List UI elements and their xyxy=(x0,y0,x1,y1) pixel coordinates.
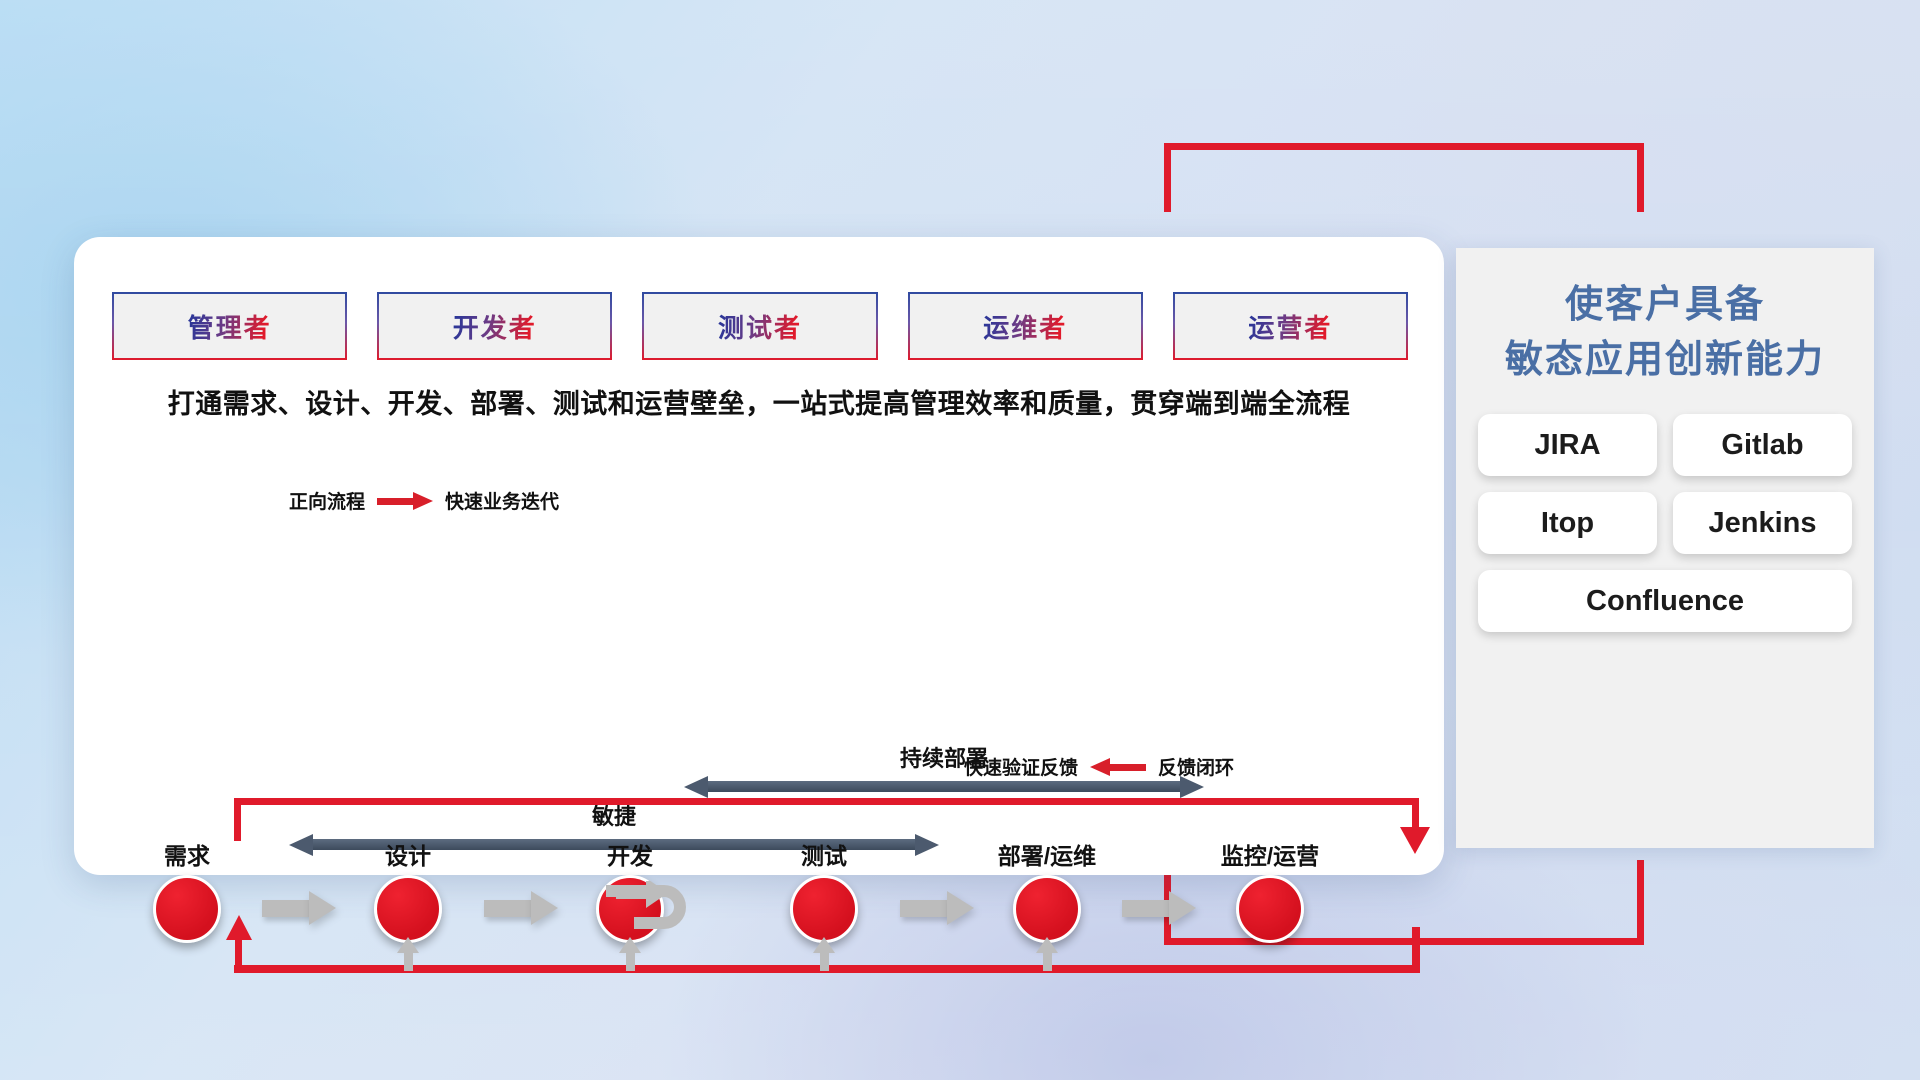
panel-title-line2: 敏态应用创新能力 xyxy=(1456,333,1874,388)
tool-chip-itop[interactable]: Itop xyxy=(1478,492,1657,554)
node-up-arrow-icon-deploy xyxy=(1036,937,1058,971)
feedback-loop-right-stem xyxy=(1412,927,1420,973)
node-label: 需求 xyxy=(112,837,262,871)
main-card: 管理者 开发者 测试者 运维者 运营者 打通需求、设计、开发、部署、测试和运营壁… xyxy=(74,237,1444,875)
pipeline: 需求 设计 开发 测试 部署/运维 xyxy=(112,837,1408,967)
node-label: 部署/运维 xyxy=(972,837,1122,871)
double-arrow-icon xyxy=(706,781,1182,792)
node-dot xyxy=(1013,875,1081,943)
flow-arrow-icon-1 xyxy=(262,891,336,925)
legend-feedback-right-label: 反馈闭环 xyxy=(1158,753,1234,780)
role-label: 运维者 xyxy=(983,308,1067,345)
pipeline-node-design[interactable]: 设计 xyxy=(333,837,483,943)
role-box-manager[interactable]: 管理者 xyxy=(112,292,347,360)
flow-arrow-icon-2 xyxy=(484,891,558,925)
value-panel: 使客户具备 敏态应用创新能力 JIRA Gitlab Itop Jenkins … xyxy=(1456,248,1874,848)
loopback-uturn-arrow-icon xyxy=(604,881,696,939)
node-dot xyxy=(1236,875,1304,943)
role-label: 运营者 xyxy=(1248,308,1332,345)
role-label: 开发者 xyxy=(453,308,537,345)
node-dot xyxy=(153,875,221,943)
node-label: 测试 xyxy=(749,837,899,871)
feedback-loop-right-segment xyxy=(1412,798,1419,830)
feedback-loop-top-bar xyxy=(234,798,1419,805)
pipeline-node-requirement[interactable]: 需求 xyxy=(112,837,262,943)
node-label: 监控/运营 xyxy=(1195,837,1345,871)
legend-forward-left-label: 正向流程 xyxy=(289,487,365,514)
pipeline-node-deploy-ops[interactable]: 部署/运维 xyxy=(972,837,1122,943)
tool-chip-confluence[interactable]: Confluence xyxy=(1478,570,1852,632)
node-label: 开发 xyxy=(555,837,705,871)
arrow-right-icon xyxy=(377,495,433,507)
arrow-left-icon xyxy=(1090,761,1146,773)
legend-forward-right-label: 快速业务迭代 xyxy=(445,487,559,514)
legend-feedback-left-label: 快速验证反馈 xyxy=(964,753,1078,780)
role-label: 测试者 xyxy=(718,308,802,345)
role-box-operations[interactable]: 运营者 xyxy=(1173,292,1408,360)
panel-title-line1: 使客户具备 xyxy=(1456,278,1874,333)
feedback-loop-left-segment xyxy=(234,798,241,841)
flow-arrow-icon-4 xyxy=(1122,891,1196,925)
pipeline-node-monitor-operations[interactable]: 监控/运营 xyxy=(1195,837,1345,943)
role-boxes-row: 管理者 开发者 测试者 运维者 运营者 xyxy=(112,292,1408,360)
tool-chip-gitlab[interactable]: Gitlab xyxy=(1673,414,1852,476)
headline-text: 打通需求、设计、开发、部署、测试和运营壁垒，一站式提高管理效率和质量，贯穿端到端… xyxy=(74,382,1444,421)
node-dot xyxy=(374,875,442,943)
legend-feedback-loop: 快速验证反馈 反馈闭环 xyxy=(964,753,1234,780)
flow-arrow-icon-3 xyxy=(900,891,974,925)
node-up-arrow-icon-design xyxy=(397,937,419,971)
node-dot xyxy=(790,875,858,943)
node-label: 设计 xyxy=(333,837,483,871)
tool-chip-list: JIRA Gitlab Itop Jenkins Confluence xyxy=(1478,414,1852,632)
panel-title: 使客户具备 敏态应用创新能力 xyxy=(1456,248,1874,388)
role-box-ops[interactable]: 运维者 xyxy=(908,292,1143,360)
tool-chip-jira[interactable]: JIRA xyxy=(1478,414,1657,476)
legend-forward-flow: 正向流程 快速业务迭代 xyxy=(289,487,559,514)
red-bracket-top xyxy=(1164,143,1644,212)
role-box-tester[interactable]: 测试者 xyxy=(642,292,877,360)
node-up-arrow-icon-test xyxy=(813,937,835,971)
tool-chip-jenkins[interactable]: Jenkins xyxy=(1673,492,1852,554)
node-up-arrow-icon-develop xyxy=(619,937,641,971)
pipeline-node-test[interactable]: 测试 xyxy=(749,837,899,943)
role-box-developer[interactable]: 开发者 xyxy=(377,292,612,360)
role-label: 管理者 xyxy=(188,308,272,345)
